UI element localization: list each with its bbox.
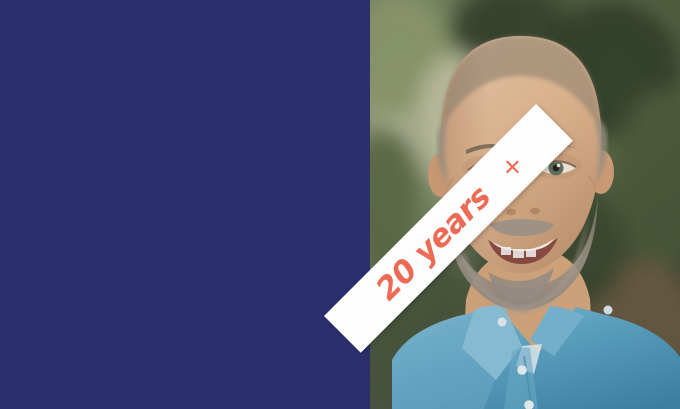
panel-mask [0, 0, 370, 409]
portrait-photo [362, 0, 680, 409]
portrait-illustration [362, 0, 680, 409]
designpro-banner: 20 years+ DESIGNPRO 20 YEARS+ design exp… [0, 0, 680, 409]
sash-plus-symbol: + [494, 149, 530, 185]
